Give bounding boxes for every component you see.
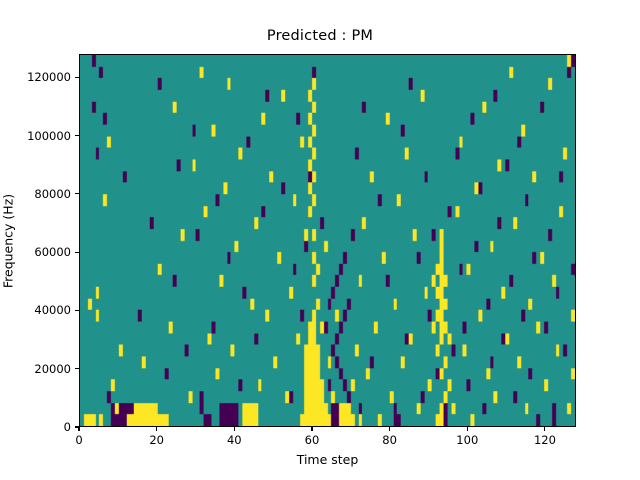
y-tick-label: 40000 (34, 303, 71, 317)
x-tick-mark (156, 427, 157, 431)
page-title: Predicted : PM (0, 28, 640, 44)
x-axis-label: Time step (79, 452, 576, 467)
x-tick-mark (467, 427, 468, 431)
x-tick-mark (78, 427, 79, 431)
heatmap-canvas[interactable] (80, 55, 575, 426)
x-tick-label: 60 (305, 433, 320, 447)
x-tick-label: 40 (227, 433, 242, 447)
y-tick-mark (75, 310, 79, 311)
y-tick-mark (75, 135, 79, 136)
y-tick-mark (75, 77, 79, 78)
y-tick-mark (75, 193, 79, 194)
y-tick-mark (75, 252, 79, 253)
y-tick-label: 120000 (27, 70, 71, 84)
x-tick-label: 120 (534, 433, 556, 447)
x-tick-label: 20 (149, 433, 164, 447)
x-tick-label: 80 (382, 433, 397, 447)
y-axis-label-wrap: Frequency (Hz) (0, 54, 16, 427)
x-tick-mark (389, 427, 390, 431)
x-tick-mark (544, 427, 545, 431)
matplotlib-figure: Predicted : PM Time step Frequency (Hz) … (0, 0, 640, 480)
y-tick-label: 20000 (34, 362, 71, 376)
x-tick-mark (311, 427, 312, 431)
heatmap-axes[interactable] (79, 54, 576, 427)
y-tick-label: 100000 (27, 129, 71, 143)
y-axis-label: Frequency (Hz) (1, 193, 16, 287)
y-tick-label: 60000 (34, 245, 71, 259)
y-tick-label: 0 (64, 420, 71, 434)
x-tick-mark (234, 427, 235, 431)
x-tick-label: 0 (75, 433, 82, 447)
y-tick-label: 80000 (34, 187, 71, 201)
y-tick-mark (75, 368, 79, 369)
x-tick-label: 100 (456, 433, 478, 447)
